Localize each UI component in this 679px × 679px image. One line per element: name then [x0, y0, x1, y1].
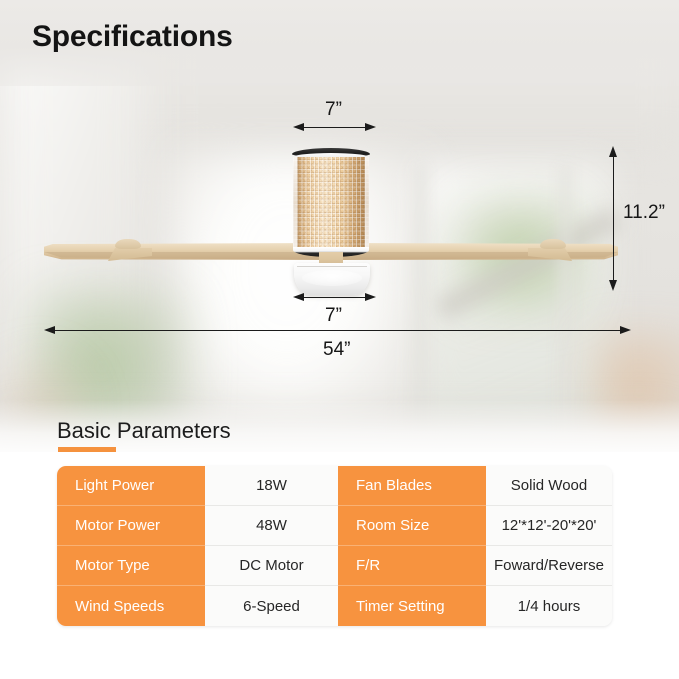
arrow-right-icon	[365, 123, 376, 131]
table-cell-value: DC Motor	[205, 546, 338, 586]
arrow-left-icon	[44, 326, 55, 334]
table-cell-label: Light Power	[57, 466, 205, 506]
table-cell-label: Fan Blades	[338, 466, 486, 506]
dimension-label-motor-width-top: 7”	[325, 99, 342, 121]
table-cell-value: Solid Wood	[486, 466, 612, 506]
section-title-basic-parameters: Basic Parameters	[57, 418, 231, 444]
table-cell-label: Room Size	[338, 506, 486, 546]
dimension-line	[301, 127, 371, 128]
table-cell-value: 12'*12'-20'*20'	[486, 506, 612, 546]
table-cell-label: Timer Setting	[338, 586, 486, 626]
arrow-right-icon	[620, 326, 631, 334]
table-cell-label: Motor Type	[57, 546, 205, 586]
arrow-left-icon	[293, 293, 304, 301]
motor-edge-right	[365, 157, 369, 249]
table-cell-value: 1/4 hours	[486, 586, 612, 626]
table-cell-label: F/R	[338, 546, 486, 586]
dimension-label-fan-height: 11.2”	[623, 202, 665, 224]
dimension-line	[613, 155, 614, 281]
arrow-down-icon	[609, 280, 617, 291]
motor-edge-left	[293, 157, 297, 249]
blade-bracket-left	[115, 239, 141, 249]
arrow-right-icon	[365, 293, 376, 301]
table-cell-label: Wind Speeds	[57, 586, 205, 626]
blade-bracket-right	[540, 239, 566, 249]
dimension-label-blade-span: 54”	[323, 339, 350, 361]
arrow-left-icon	[293, 123, 304, 131]
dimension-line	[301, 297, 371, 298]
motor-cylinder-shading	[293, 157, 369, 249]
table-cell-value: 6-Speed	[205, 586, 338, 626]
specifications-table: Light Power 18W Fan Blades Solid Wood Mo…	[57, 466, 612, 626]
table-cell-value: 18W	[205, 466, 338, 506]
table-cell-label: Motor Power	[57, 506, 205, 546]
led-light-glow	[302, 270, 362, 286]
section-title-underline	[58, 447, 116, 452]
led-light-kit-seam	[297, 266, 367, 267]
specifications-page: Specifications 7”	[0, 0, 679, 679]
dimension-line	[52, 330, 626, 331]
table-cell-value: Foward/Reverse	[486, 546, 612, 586]
table-cell-value: 48W	[205, 506, 338, 546]
motor-housing	[292, 148, 370, 256]
dimension-label-light-width-bottom: 7”	[325, 305, 342, 327]
arrow-up-icon	[609, 146, 617, 157]
